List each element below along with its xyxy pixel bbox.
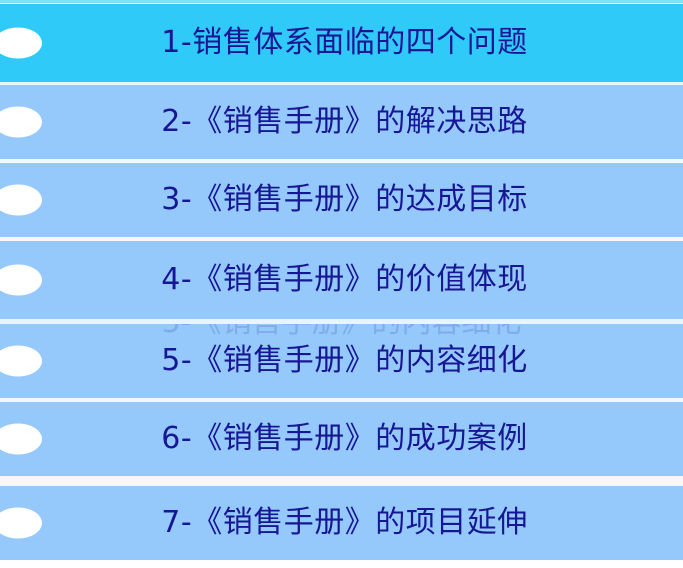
row-gap-6: [0, 476, 683, 486]
agenda-row-2[interactable]: 2-《销售手册》的解决思路: [0, 85, 683, 159]
ellipse-bullet-icon: [0, 508, 42, 539]
agenda-list: 1-销售体系面临的四个问题 2-《销售手册》的解决思路 3-《销售手册》的达成目…: [0, 0, 683, 568]
ellipse-bullet-icon: [0, 265, 42, 296]
bottom-margin: [0, 560, 683, 568]
agenda-row-6[interactable]: 6-《销售手册》的成功案例: [0, 402, 683, 476]
agenda-row-label: 6-《销售手册》的成功案例: [155, 424, 527, 454]
ghost-watermark-text: 5-《销售手册》的内容细化: [0, 324, 683, 341]
agenda-row-1[interactable]: 1-销售体系面临的四个问题: [0, 4, 683, 82]
agenda-row-label: 4-《销售手册》的价值体现: [155, 265, 527, 295]
agenda-row-7[interactable]: 7-《销售手册》的项目延伸: [0, 486, 683, 560]
agenda-row-3[interactable]: 3-《销售手册》的达成目标: [0, 163, 683, 237]
ellipse-bullet-icon: [0, 28, 42, 59]
agenda-row-5[interactable]: 5-《销售手册》的内容细化 5-《销售手册》的内容细化: [0, 324, 683, 398]
ellipse-bullet-icon: [0, 185, 42, 216]
agenda-row-label: 3-《销售手册》的达成目标: [155, 185, 527, 215]
agenda-row-label: 1-销售体系面临的四个问题: [155, 28, 527, 58]
agenda-row-label: 2-《销售手册》的解决思路: [155, 107, 527, 137]
agenda-row-label: 7-《销售手册》的项目延伸: [155, 508, 527, 538]
agenda-row-label: 5-《销售手册》的内容细化: [155, 346, 527, 376]
ellipse-bullet-icon: [0, 107, 42, 138]
ellipse-bullet-icon: [0, 424, 42, 455]
ellipse-bullet-icon: [0, 346, 42, 377]
agenda-row-4[interactable]: 4-《销售手册》的价值体现: [0, 241, 683, 319]
slide-canvas: 1-销售体系面临的四个问题 2-《销售手册》的解决思路 3-《销售手册》的达成目…: [0, 0, 683, 568]
